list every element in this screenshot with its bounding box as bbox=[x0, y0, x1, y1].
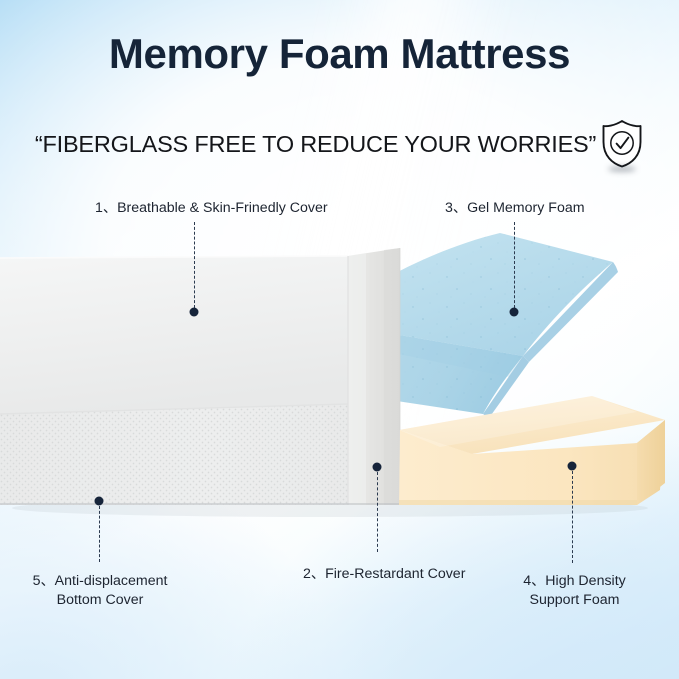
leader-line-3 bbox=[514, 222, 515, 308]
page-title: Memory Foam Mattress bbox=[0, 30, 679, 78]
leader-line-1 bbox=[194, 222, 195, 308]
high-density-support-foam-layer bbox=[399, 396, 665, 505]
gel-memory-foam-layer bbox=[330, 225, 630, 425]
callout-label-2-line-1: 2、Fire-Restardant Cover bbox=[303, 565, 465, 584]
subtitle-row: “FIBERGLASS FREE TO REDUCE YOUR WORRIES” bbox=[0, 118, 679, 170]
callout-dot-4 bbox=[568, 462, 577, 471]
callout-dot-2 bbox=[373, 463, 382, 472]
shield-drop-shadow bbox=[608, 166, 636, 172]
product-infographic: Memory Foam Mattress “FIBERGLASS FREE TO… bbox=[0, 0, 679, 679]
shield-check-icon bbox=[600, 118, 644, 170]
callout-dot-5 bbox=[95, 497, 104, 506]
callout-label-3-line-1: 3、Gel Memory Foam bbox=[445, 199, 585, 218]
leader-line-4 bbox=[572, 471, 573, 563]
callout-label-3: 3、Gel Memory Foam bbox=[445, 199, 585, 218]
callout-label-1-line-1: 1、Breathable & Skin-Frinedly Cover bbox=[95, 199, 328, 218]
callout-label-4-line-2: Support Foam bbox=[497, 591, 652, 610]
callout-label-4: 4、High Density Support Foam bbox=[497, 572, 652, 610]
callout-label-2: 2、Fire-Restardant Cover bbox=[303, 565, 465, 584]
leader-line-2 bbox=[377, 472, 378, 552]
callout-label-5-line-1: 5、Anti-displacement bbox=[20, 572, 180, 591]
breathable-cover-layer bbox=[0, 256, 399, 510]
subtitle-tagline: “FIBERGLASS FREE TO REDUCE YOUR WORRIES” bbox=[35, 131, 596, 158]
callout-dot-1 bbox=[190, 308, 199, 317]
leader-line-5 bbox=[99, 506, 100, 562]
callout-label-5-line-2: Bottom Cover bbox=[20, 591, 180, 610]
callout-dot-3 bbox=[510, 308, 519, 317]
callout-label-5: 5、Anti-displacement Bottom Cover bbox=[20, 572, 180, 610]
callout-label-4-line-1: 4、High Density bbox=[497, 572, 652, 591]
callout-label-1: 1、Breathable & Skin-Frinedly Cover bbox=[95, 199, 328, 218]
